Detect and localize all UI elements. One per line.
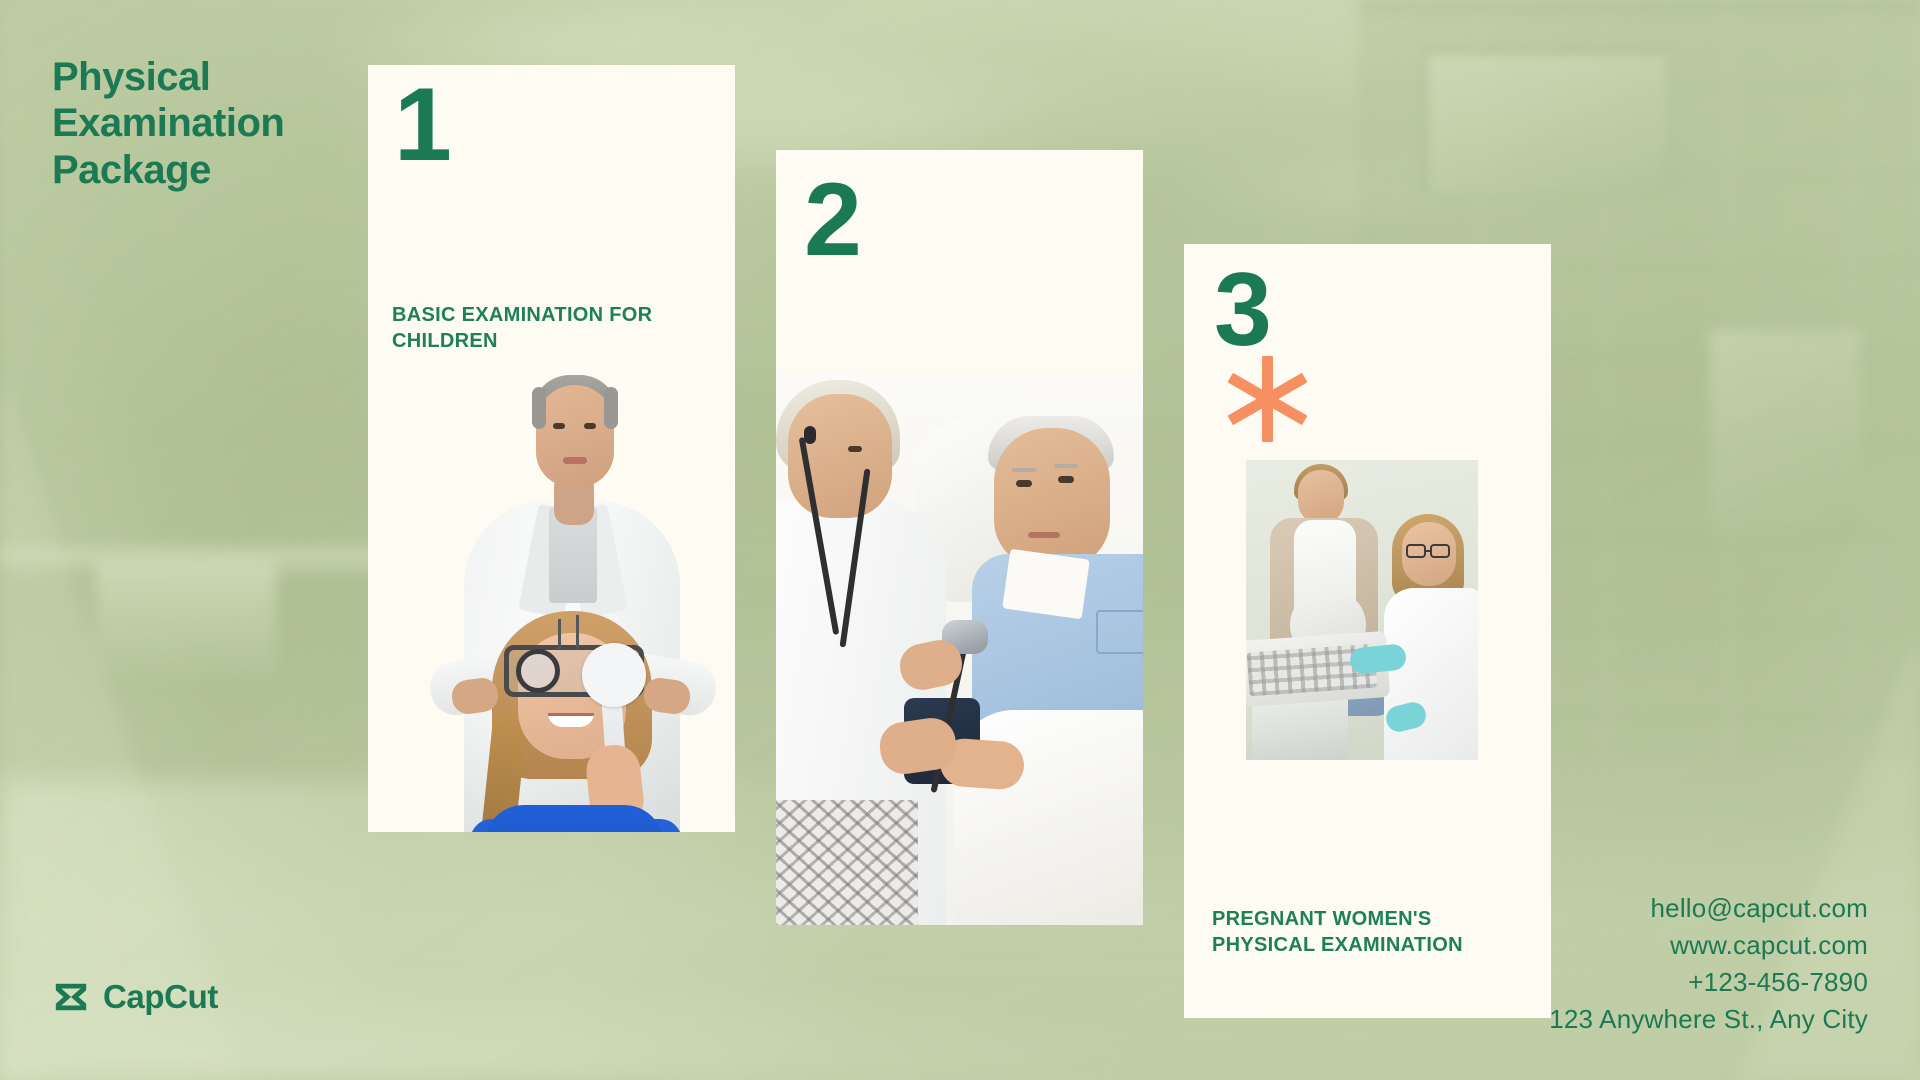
contact-phone[interactable]: +123-456-7890 [1549,964,1868,1001]
package-card-3[interactable]: 3 PREGNANT WOMEN'S PHYSICAL EXAMINATION [1184,244,1551,1018]
card-title-3: PREGNANT WOMEN'S PHYSICAL EXAMINATION [1212,906,1512,959]
page-title-line-1: Physical [52,54,382,100]
contact-info: hello@capcut.com www.capcut.com +123-456… [1549,890,1868,1038]
package-card-2[interactable]: 2 PHYSICAL EXAMINATION OF PARENTS [776,150,1143,925]
page-title: Physical Examination Package [52,54,382,193]
page-title-line-2: Examination [52,100,382,146]
contact-address: 123 Anywhere St., Any City [1549,1001,1868,1038]
card-photo-3 [1246,460,1478,760]
card-photo-2 [776,372,1143,925]
capcut-logo-text: CapCut [103,978,218,1016]
asterisk-icon [1224,356,1310,442]
card-number-3: 3 [1214,268,1270,353]
card-number-2: 2 [804,178,860,263]
page-title-line-3: Package [52,147,382,193]
card-title-1: BASIC EXAMINATION FOR CHILDREN [392,302,692,355]
capcut-logo-icon [52,980,90,1014]
contact-email[interactable]: hello@capcut.com [1549,890,1868,927]
poster-canvas: Physical Examination Package 1 BASIC EXA… [0,0,1920,1080]
package-card-1[interactable]: 1 BASIC EXAMINATION FOR CHILDREN [368,65,735,832]
contact-website[interactable]: www.capcut.com [1549,927,1868,964]
card-number-1: 1 [394,83,450,168]
card-photo-1 [408,357,734,832]
capcut-logo[interactable]: CapCut [52,978,218,1016]
